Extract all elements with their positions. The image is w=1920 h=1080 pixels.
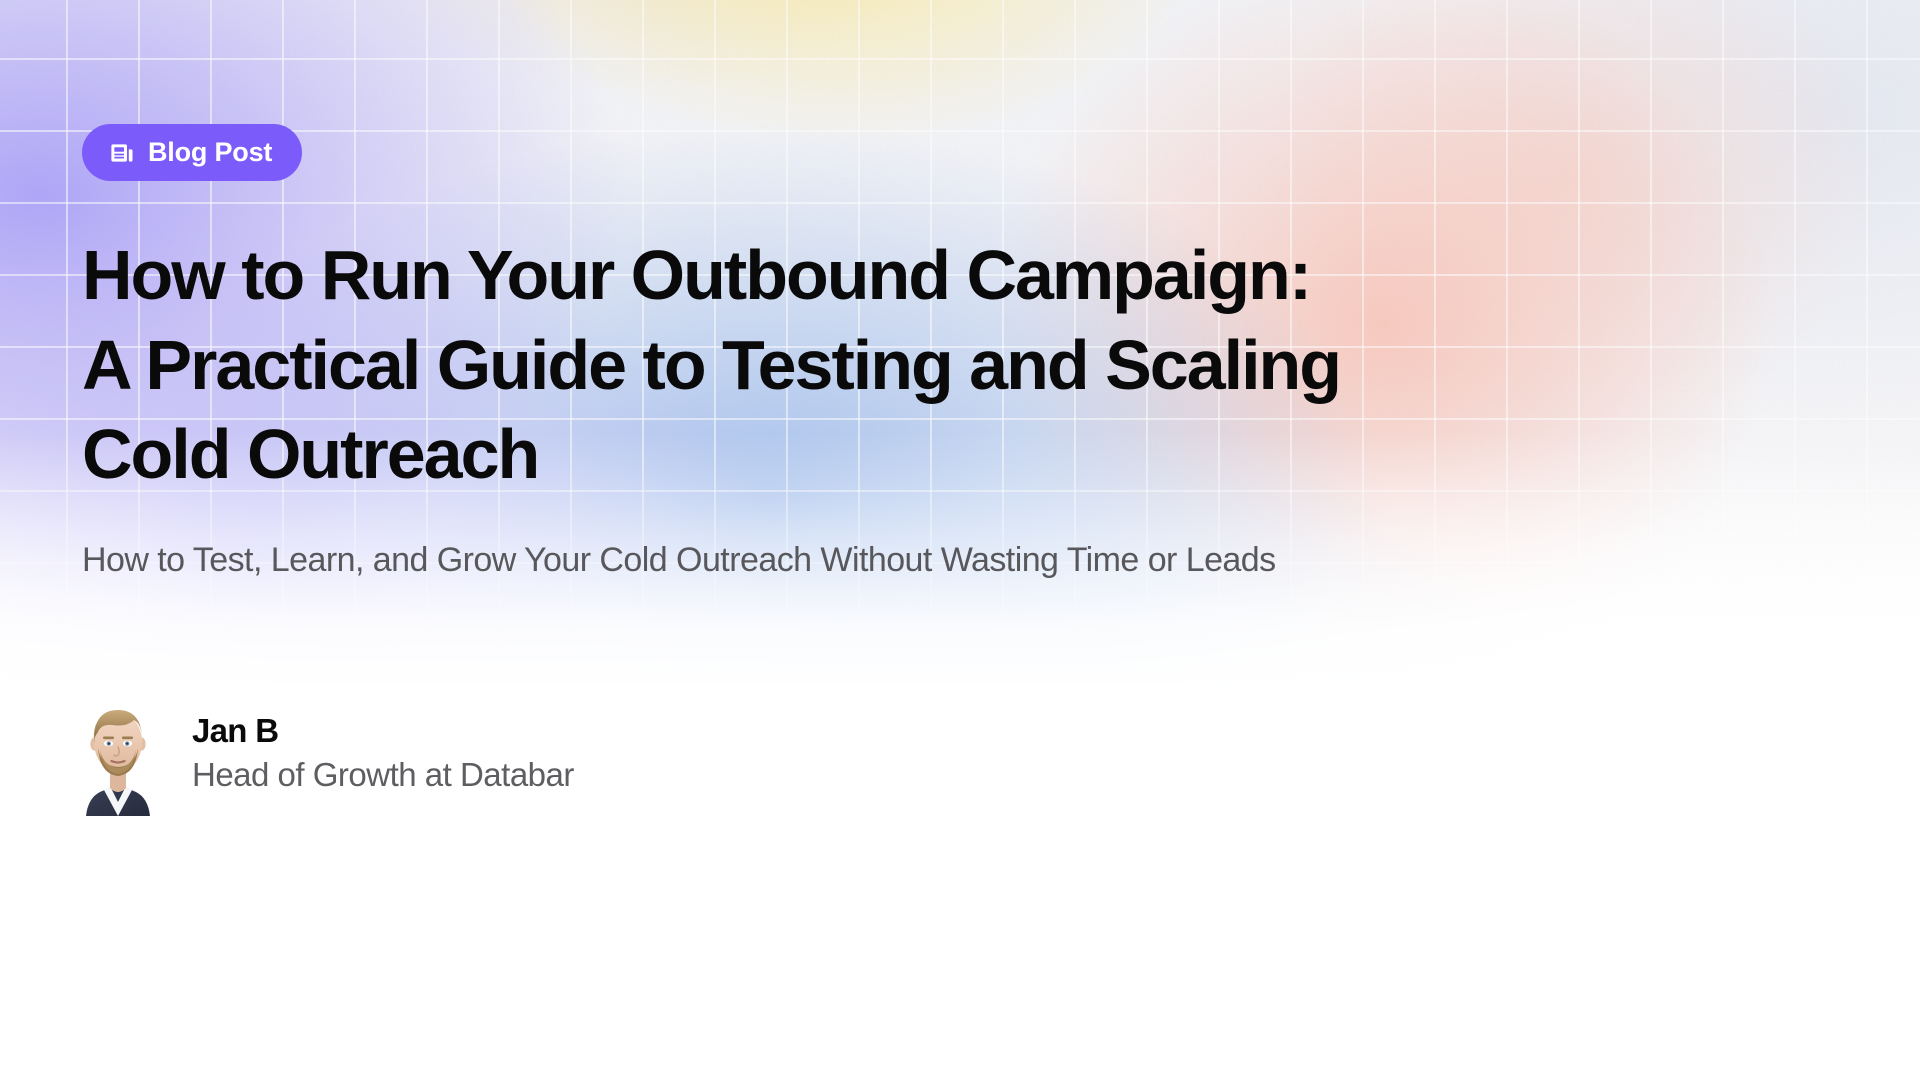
author-block: Jan B Head of Growth at Databar [82,692,1920,816]
page-title-line-2: A Practical Guide to Testing and Scaling [82,326,1340,404]
newspaper-icon [109,140,135,166]
hero-content: Blog Post How to Run Your Outbound Campa… [0,0,1920,816]
blog-post-badge-label: Blog Post [148,139,272,166]
page-subtitle: How to Test, Learn, and Grow Your Cold O… [82,538,1872,584]
blog-post-badge[interactable]: Blog Post [82,124,302,181]
page-title-line-1: How to Run Your Outbound Campaign: [82,236,1310,314]
author-name: Jan B [192,713,574,750]
page-title-line-3: Cold Outreach [82,415,538,493]
page-title: How to Run Your Outbound Campaign: A Pra… [82,231,1842,500]
blog-post-hero: Blog Post How to Run Your Outbound Campa… [0,0,1920,1080]
author-meta: Jan B Head of Growth at Databar [192,713,574,794]
avatar [82,692,154,816]
author-role: Head of Growth at Databar [192,757,574,794]
